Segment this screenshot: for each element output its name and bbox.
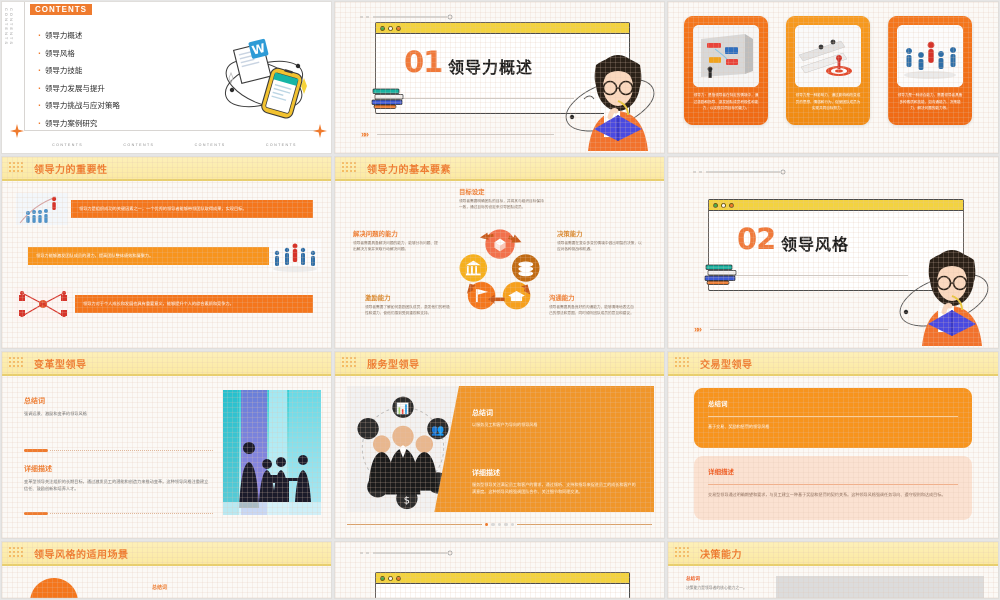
window-dot-green	[713, 203, 718, 208]
dot-matrix-icon	[674, 356, 696, 370]
detail-label: 详细描述	[472, 468, 638, 478]
boardroom-meeting-photo	[223, 390, 321, 515]
divider	[708, 416, 958, 417]
summary-label: 总结词	[708, 398, 958, 408]
list-item[interactable]: 领导力技能	[38, 65, 120, 76]
dot-matrix-icon	[674, 546, 696, 560]
definition-card[interactable]: 领导力：是指领导者在特定的情境中，通过激励和指导、激发团队成员积极性和能力，以实…	[684, 16, 768, 125]
section-number: 02	[737, 222, 775, 256]
detail-label: 详细描述	[24, 464, 209, 474]
slide-header: 领导风格的适用场景	[2, 542, 331, 566]
window-titlebar	[709, 200, 963, 211]
slide-title: 交易型领导	[700, 356, 753, 371]
detail-text: 变革型领导关注组织的长期目标，通过激发员工的潜能和创造力来推动变革。这种领导风格…	[24, 478, 209, 492]
svg-text:📊: 📊	[396, 402, 409, 415]
element-desc: 领导者需要明确团队的目标，并将其与组织目标保持一致，通过目标的设定来引导团队成员…	[459, 198, 547, 211]
chevron-right-icon: »»	[694, 324, 700, 334]
slide-transactional-leadership[interactable]: 交易型领导 总结词 基于交易、奖励和惩罚的领导风格 详细描述 交易型领导通过明确…	[667, 351, 999, 539]
detail-block: 详细描述 变革型领导关注组织的长期目标，通过激发员工的潜能和创造力来推动变革。这…	[24, 464, 209, 492]
window-dot-orange	[396, 576, 401, 581]
element-goal-setting: 目标设定 领导者需要明确团队的目标，并将其与组织目标保持一致，通过目标的设定来引…	[459, 187, 547, 211]
slide-body: 领导力是组织成功的关键因素之一，一个优秀的领导者能够带领团队取得成果，实现目标。…	[2, 181, 331, 348]
pagination-dot[interactable]	[491, 523, 495, 527]
decision-summary: 总结词 决策能力是领导者的核心能力之一。	[686, 576, 770, 591]
element-title: 解决问题的能力	[353, 229, 441, 238]
element-problem-solving: 解决问题的能力 领导者需要具备解决问题的能力，能够分析问题、提出解决方案并采取行…	[353, 229, 441, 253]
slide-body: 总结词 基于交易、奖励和惩罚的领导风格 详细描述 交易型领导通过明确期望和要求，…	[668, 376, 998, 538]
dot-matrix-icon	[341, 356, 363, 370]
slide-title: 决策能力	[700, 546, 742, 561]
slide-body: 目标设定 领导者需要明确团队的目标，并将其与组织目标保持一致，通过目标的设定来引…	[335, 181, 664, 348]
slide-header: 变革型领导	[2, 352, 331, 376]
slide-section-02[interactable]: 02 领导风格 »»	[667, 156, 999, 349]
summary-label: 总结词	[152, 584, 167, 591]
list-item[interactable]: 领导力发展与提升	[38, 83, 120, 94]
slide-header: 领导力的重要性	[2, 157, 331, 181]
climbing-team-photo	[16, 193, 68, 225]
cycle-diagram	[454, 222, 546, 314]
window-dot-white	[388, 576, 393, 581]
business-team-icons-photo: 📊 👥 $	[347, 386, 459, 512]
orange-circle-shape	[30, 578, 78, 599]
summary-label: 总结词	[24, 396, 204, 406]
dot-matrix-icon	[8, 356, 30, 370]
section-title: 领导风格	[781, 231, 849, 255]
contents-list: 领导力概述 领导风格 领导力技能 领导力发展与提升 领导力挑战与应对策略 领导力…	[38, 30, 120, 135]
definition-card-text: 领导力是一种影响力，通过影响和改变成员的思想、情感和行为，促使团队成员为实现共同…	[794, 92, 862, 112]
slide-body: 总结词 强调远景、激励和变革的领导风格 详细描述 变革型领导关注组织的长期目标，…	[2, 376, 331, 538]
summary-text: 决策能力是领导者的核心能力之一。	[686, 585, 770, 591]
slide-title: 领导力的基本要素	[367, 161, 451, 176]
pagination-dot[interactable]	[498, 523, 502, 527]
slide-contents[interactable]: CONTENTS CONTENTS CONTENTS 领导力概述 领导风格 领导…	[1, 1, 332, 154]
dot-matrix-icon	[8, 161, 30, 175]
books-stack-icon	[371, 87, 409, 109]
divider-line-lower	[710, 329, 888, 330]
slide-style-scenarios[interactable]: 领导风格的适用场景 总结词	[1, 541, 332, 599]
slide-decision-ability[interactable]: 决策能力 总结词 决策能力是领导者的核心能力之一。	[667, 541, 999, 599]
transactional-detail-card: 详细描述 交易型领导通过明确期望和要求，与员工建立一种基于奖励和惩罚的契约关系。…	[694, 456, 972, 520]
reading-girl-illustration	[892, 238, 999, 348]
window-titlebar	[376, 23, 629, 34]
pagination-dot[interactable]	[485, 523, 489, 527]
definition-card[interactable]: 领导力是一种影响力，通过影响和改变成员的思想、情感和行为，促使团队成员为实现共同…	[786, 16, 870, 125]
team-figures-photo	[897, 25, 963, 87]
slide-title: 领导力的重要性	[34, 161, 108, 176]
whiteboard-strategy-photo	[693, 25, 759, 87]
summary-label: 总结词	[686, 576, 770, 582]
document-phone-illustration: W	[219, 38, 309, 123]
summary-label: 总结词	[472, 408, 638, 418]
slide-servant-leadership[interactable]: 服务型领导 📊 👥 $	[334, 351, 665, 539]
slide-title: 变革型领导	[34, 356, 87, 371]
list-item[interactable]: 领导力案例研究	[38, 118, 120, 129]
slide-body: 📊 👥 $	[335, 376, 664, 538]
element-decision: 决策能力 领导者需要在复杂多变的情境中做出明智的决策，以应对各种挑战和机遇。	[557, 229, 645, 253]
window-dot-green	[380, 576, 385, 581]
element-title: 决策能力	[557, 229, 645, 238]
element-desc: 领导者需要具备解决问题的能力，能够分析问题、提出解决方案并采取行动解决问题。	[353, 240, 441, 253]
detail-text: 交易型领导通过明确期望和要求，与员工建立一种基于奖励和惩罚的契约关系。这种领导风…	[708, 492, 958, 499]
window-titlebar	[376, 573, 629, 584]
window-dot-white	[388, 26, 393, 31]
dash-line-decoration	[359, 550, 454, 556]
reading-girl-illustration	[558, 43, 665, 153]
element-title: 沟通能力	[549, 293, 637, 302]
summary-block: 总结词 强调远景、激励和变革的领导风格	[24, 396, 204, 417]
accent-bar	[24, 449, 48, 452]
element-desc: 领导者需要在复杂多变的情境中做出明智的决策，以应对各种挑战和机遇。	[557, 240, 645, 253]
detail-text: 服务型领导关注满足员工和客户的需求，通过倾听、支持和指导来促进员工的成长和客户的…	[472, 481, 638, 496]
window-dot-orange	[729, 203, 734, 208]
list-item[interactable]: 领导力概述	[38, 30, 120, 41]
dotted-rule	[50, 513, 213, 514]
detail-label: 详细描述	[708, 466, 958, 476]
slide-header: 领导力的基本要素	[335, 157, 664, 181]
accent-bar	[24, 512, 48, 515]
slide-title: 服务型领导	[367, 356, 420, 371]
transactional-summary-card: 总结词 基于交易、奖励和惩罚的领导风格	[694, 388, 972, 448]
summary-text: 强调远景、激励和变革的领导风格	[24, 410, 204, 417]
importance-text: 领导力能够激发团队成员的潜力，提高团队整体绩效和凝聚力。	[28, 247, 269, 265]
slide-section-01[interactable]: 01 领导力概述 »»	[334, 1, 665, 154]
slide-body: 总结词	[2, 566, 331, 598]
pagination-dot[interactable]	[504, 523, 508, 527]
slide-basic-elements[interactable]: 领导力的基本要素 目标设定 领导者需要明确团队的目标，并将其与组织目标保持一致，…	[334, 156, 665, 349]
slide-title: 领导风格的适用场景	[34, 546, 129, 561]
definition-card-text: 领导力是一种综合能力，需要领导者具备多种素质和技能，如沟通能力、决策能力、解决问…	[896, 92, 964, 112]
window-dot-orange	[396, 26, 401, 31]
footer-label: CONTENTS	[266, 143, 297, 147]
slide-thumbnail-grid: CONTENTS CONTENTS CONTENTS 领导力概述 领导风格 领导…	[0, 0, 1000, 600]
servant-summary: 总结词 以服务员工和客户为导向的领导风格	[472, 408, 638, 428]
collaboration-photo	[14, 287, 72, 321]
slide-header: 决策能力	[668, 542, 998, 566]
slide-importance[interactable]: 领导力的重要性 领导力是组织成功的关键因素之一，一个优秀的领导者能够带领团队取得…	[1, 156, 332, 349]
list-item[interactable]: 领导风格	[38, 48, 120, 59]
element-desc: 领导者需要了解如何激励团队成员，激发他们的积极性和潜力，使他们感到受到重视和支持…	[365, 304, 453, 317]
contents-badge: CONTENTS	[30, 4, 92, 15]
network-team-photo	[269, 239, 321, 273]
window-dot-green	[380, 26, 385, 31]
vertical-rule	[24, 2, 25, 131]
element-title: 目标设定	[459, 187, 547, 196]
element-motivation: 激励能力 领导者需要了解如何激励团队成员，激发他们的积极性和潜力，使他们感到受到…	[365, 293, 453, 317]
definition-card-text: 领导力：是指领导者在特定的情境中，通过激励和指导、激发团队成员积极性和能力，以实…	[692, 92, 760, 112]
slide-header: 交易型领导	[668, 352, 998, 376]
element-title: 激励能力	[365, 293, 453, 302]
star-decoration-right	[313, 124, 327, 138]
placeholder-image-block	[776, 576, 984, 598]
slide-transformational-leadership[interactable]: 变革型领导 总结词 强调远景、激励和变革的领导风格 详细描述 变革型领导关注组织…	[1, 351, 332, 539]
slide-pagination[interactable]	[347, 523, 652, 527]
importance-text: 领导力是组织成功的关键因素之一，一个优秀的领导者能够带领团队取得成果，实现目标。	[71, 200, 313, 218]
svg-text:$: $	[404, 495, 410, 506]
pagination-dot[interactable]	[511, 523, 515, 527]
footer-label: CONTENTS	[195, 143, 226, 147]
element-communication: 沟通能力 领导者需要具备良好的沟通能力，能够清晰地表达自己的想法和意图，同时倾听…	[549, 293, 637, 317]
dotted-rule	[50, 450, 213, 451]
footer-label: CONTENTS	[52, 143, 83, 147]
importance-text: 领导力对于个人成长和发展也具有重要意义，能够提升个人的综合素质和竞争力。	[75, 295, 313, 313]
importance-row: 领导力是组织成功的关键因素之一，一个优秀的领导者能够带领团队取得成果，实现目标。	[16, 193, 313, 225]
dot-matrix-icon	[341, 161, 363, 175]
slide-leadership-definition-cards[interactable]: 领导力：是指领导者在特定的情境中，通过激励和指导、激发团队成员积极性和能力，以实…	[667, 1, 999, 154]
pagination-rule-left	[347, 524, 482, 525]
divider-line-lower	[377, 134, 554, 135]
servant-detail: 详细描述 服务型领导关注满足员工和客户的需求，通过倾听、支持和指导来促进员工的成…	[472, 468, 638, 496]
divider	[708, 484, 958, 485]
list-item[interactable]: 领导力挑战与应对策略	[38, 100, 120, 111]
slide-section-blank[interactable]	[334, 541, 665, 599]
footer-label: CONTENTS	[123, 143, 154, 147]
servant-card: 📊 👥 $	[347, 386, 654, 512]
svg-text:👥: 👥	[431, 423, 444, 436]
contents-footer: CONTENTS CONTENTS CONTENTS CONTENTS	[32, 143, 317, 147]
definition-card[interactable]: 领导力是一种综合能力，需要领导者具备多种素质和技能，如沟通能力、决策能力、解决问…	[888, 16, 972, 125]
window-dot-white	[721, 203, 726, 208]
pagination-rule-right	[517, 524, 652, 525]
section-title: 领导力概述	[448, 54, 533, 78]
window-frame	[375, 572, 630, 599]
summary-text: 以服务员工和客户为导向的领导风格	[472, 421, 638, 428]
dash-line-decoration	[359, 14, 454, 20]
slide-header: 服务型领导	[335, 352, 664, 376]
summary-text: 基于交易、奖励和惩罚的领导风格	[708, 424, 958, 431]
importance-row: 领导力对于个人成长和发展也具有重要意义，能够提升个人的综合素质和竞争力。	[14, 287, 313, 321]
element-desc: 领导者需要具备良好的沟通能力，能够清晰地表达自己的想法和意图，同时倾听团队成员的…	[549, 304, 637, 317]
cycle-node-problem-solving	[459, 254, 487, 282]
importance-row: 领导力能够激发团队成员的潜力，提高团队整体绩效和凝聚力。	[28, 239, 321, 273]
chevron-right-icon: »»	[361, 129, 367, 139]
star-decoration-left	[10, 124, 24, 138]
dot-matrix-icon	[8, 546, 30, 560]
slide-body: 总结词 决策能力是领导者的核心能力之一。	[668, 566, 998, 598]
books-stack-icon	[704, 263, 742, 285]
dash-line-decoration	[692, 169, 787, 175]
arrows-target-photo	[795, 25, 861, 87]
section-number: 01	[404, 45, 442, 79]
